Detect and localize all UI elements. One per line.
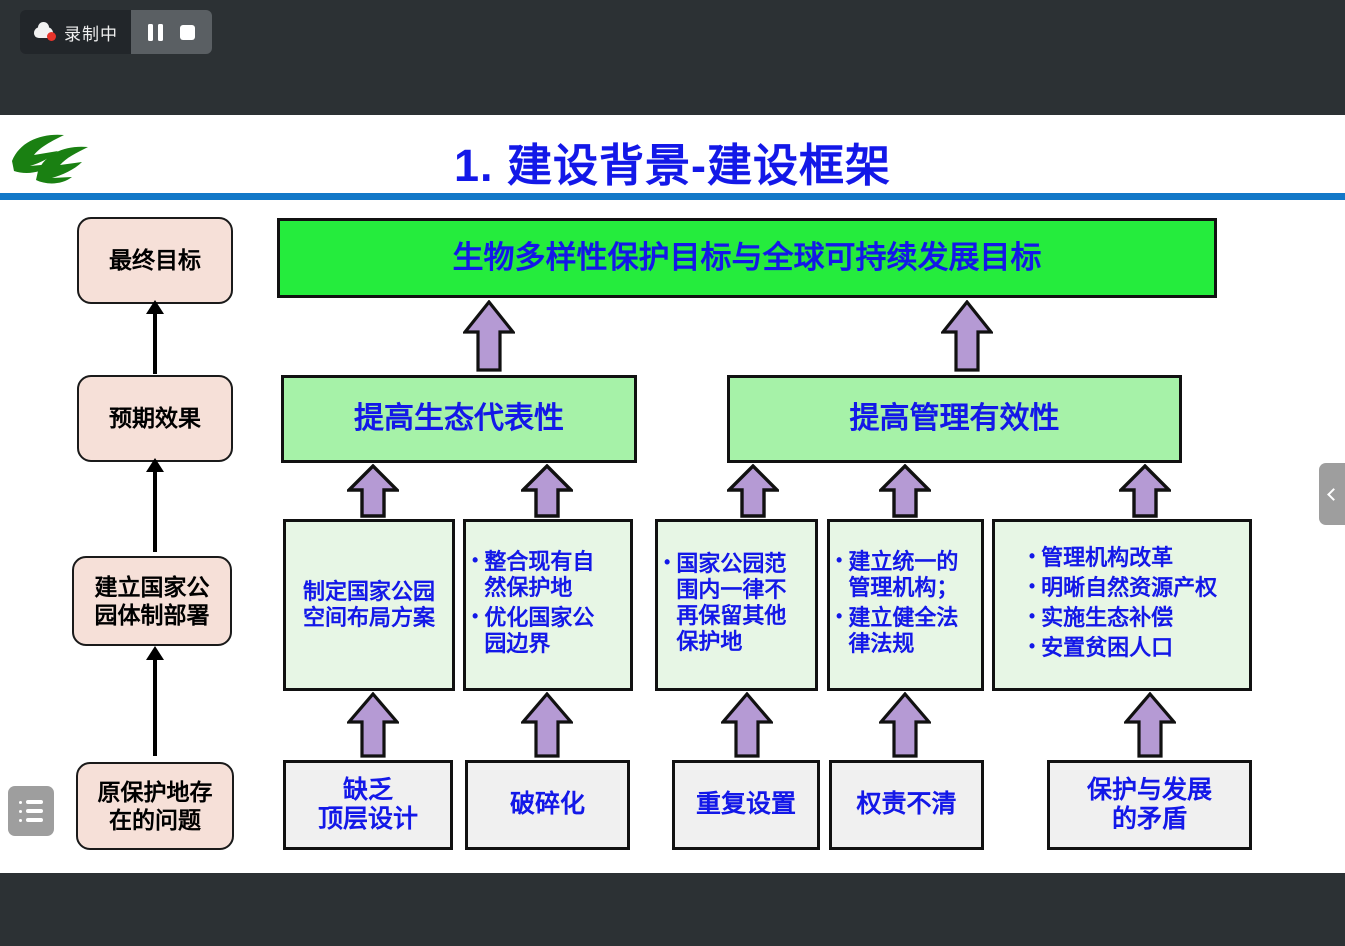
flow-arrow-up — [721, 692, 773, 758]
list-item: •明晰自然资源产权 — [1029, 575, 1217, 601]
list-item: •实施生态补偿 — [1029, 605, 1217, 631]
connector-line — [153, 468, 157, 552]
bullet-text: 整合现有自 然保护地 — [484, 549, 594, 601]
row-label-text: 建立国家公 园体制部署 — [95, 573, 210, 629]
issue-box-text: 权责不清 — [856, 790, 956, 820]
connector-line — [153, 656, 157, 756]
bullet-text: 安置贫困人口 — [1041, 635, 1217, 661]
row-label-final-goal: 最终目标 — [77, 217, 233, 304]
goal-box-ecological-representativeness: 提高生态代表性 — [281, 375, 637, 463]
final-goal-banner-text: 生物多样性保护目标与全球可持续发展目标 — [453, 240, 1042, 277]
flow-arrow-up — [463, 300, 515, 372]
bullet-dot: • — [1029, 545, 1035, 568]
row-label-text: 原保护地存 在的问题 — [98, 778, 213, 834]
action-box-integrate-reserves: •整合现有自 然保护地 •优化国家公 园边界 — [463, 519, 633, 691]
bullet-dot: • — [1029, 605, 1035, 628]
issue-box-text: 破碎化 — [510, 790, 585, 820]
right-panel-toggle[interactable] — [1319, 463, 1345, 525]
issue-box-duplicate-setup: 重复设置 — [672, 760, 820, 850]
recording-widget[interactable]: 录制中 — [20, 10, 212, 54]
flow-arrow-up — [521, 692, 573, 758]
issue-box-text: 缺乏 顶层设计 — [318, 776, 418, 835]
bullet-dot: • — [1029, 635, 1035, 658]
final-goal-banner: 生物多样性保护目标与全球可持续发展目标 — [277, 218, 1217, 298]
bullet-text: 优化国家公 园边界 — [484, 605, 594, 657]
action-box-spatial-layout: 制定国家公园 空间布局方案 — [283, 519, 455, 691]
flow-arrow-up — [347, 692, 399, 758]
goal-box-text: 提高生态代表性 — [354, 401, 564, 436]
top-chrome-bar: 录制中 — [0, 0, 1345, 115]
issue-box-unclear-responsibility: 权责不清 — [829, 760, 984, 850]
action-box-unified-management: •建立统一的 管理机构； •建立健全法 律法规 — [827, 519, 984, 691]
recording-status-label: 录制中 — [64, 20, 118, 45]
connector-arrowhead — [146, 458, 164, 472]
bullet-dot: • — [664, 551, 670, 574]
pause-icon[interactable] — [148, 24, 163, 41]
connector-arrowhead — [146, 646, 164, 660]
bullet-dot: • — [472, 605, 478, 628]
bullet-text: 建立统一的 管理机构； — [848, 549, 958, 601]
bullet-list: •管理机构改革 •明晰自然资源产权 •实施生态补偿 •安置贫困人口 — [1029, 545, 1217, 665]
connector-arrowhead — [146, 300, 164, 314]
flow-arrow-up — [1124, 692, 1176, 758]
bullet-list: •整合现有自 然保护地 •优化国家公 园边界 — [472, 549, 594, 661]
goal-box-management-effectiveness: 提高管理有效性 — [727, 375, 1182, 463]
slide-viewer: 录制中 1. 建设背景-建设框架 最终目标 预期效果 建立国家公 园体制部署 — [0, 0, 1345, 946]
bullet-text: 明晰自然资源产权 — [1041, 575, 1217, 601]
bottom-chrome-bar — [0, 873, 1345, 946]
list-item: •优化国家公 园边界 — [472, 605, 594, 657]
row-label-existing-problems: 原保护地存 在的问题 — [76, 762, 234, 850]
list-item: •建立统一的 管理机构； — [836, 549, 958, 601]
recording-controls[interactable] — [131, 10, 212, 54]
header-divider — [0, 193, 1345, 200]
bullet-text: 实施生态补偿 — [1041, 605, 1217, 631]
list-item: •安置贫困人口 — [1029, 635, 1217, 661]
list-item: •整合现有自 然保护地 — [472, 549, 594, 601]
bullet-list: •国家公园范 围内一律不 再保留其他 保护地 — [664, 551, 786, 659]
action-box-text: 制定国家公园 空间布局方案 — [303, 579, 435, 631]
bullet-text: 建立健全法 律法规 — [848, 605, 958, 657]
action-box-management-reform: •管理机构改革 •明晰自然资源产权 •实施生态补偿 •安置贫困人口 — [992, 519, 1252, 691]
row-label-text: 预期效果 — [109, 404, 201, 432]
stop-icon[interactable] — [180, 25, 195, 40]
row-label-expected-effect: 预期效果 — [77, 375, 233, 462]
list-item: •管理机构改革 — [1029, 545, 1217, 571]
bullet-dot: • — [836, 605, 842, 628]
goal-box-text: 提高管理有效性 — [850, 401, 1060, 436]
recording-status: 录制中 — [20, 10, 131, 54]
bullet-dot: • — [1029, 575, 1035, 598]
bullet-text: 国家公园范 围内一律不 再保留其他 保护地 — [676, 551, 786, 655]
chevron-left-icon — [1327, 488, 1340, 501]
flow-arrow-up — [727, 464, 779, 518]
list-item: •国家公园范 围内一律不 再保留其他 保护地 — [664, 551, 786, 655]
issue-box-protection-development-conflict: 保护与发展 的矛盾 — [1047, 760, 1252, 850]
bullet-dot: • — [836, 549, 842, 572]
issue-box-text: 保护与发展 的矛盾 — [1087, 776, 1212, 835]
issue-box-fragmentation: 破碎化 — [465, 760, 630, 850]
list-item: •建立健全法 律法规 — [836, 605, 958, 657]
list-menu-icon — [19, 800, 43, 822]
action-box-no-other-reserves: •国家公园范 围内一律不 再保留其他 保护地 — [655, 519, 818, 691]
issue-box-lack-top-design: 缺乏 顶层设计 — [283, 760, 453, 850]
bullet-list: •建立统一的 管理机构； •建立健全法 律法规 — [836, 549, 958, 661]
left-panel-toggle[interactable] — [8, 786, 54, 836]
flow-arrow-up — [1119, 464, 1171, 518]
flow-arrow-up — [347, 464, 399, 518]
flow-arrow-up — [879, 464, 931, 518]
diagram-canvas: 最终目标 预期效果 建立国家公 园体制部署 原保护地存 在的问题 生物多样性保护… — [0, 200, 1345, 873]
flow-arrow-up — [941, 300, 993, 372]
flow-arrow-up — [521, 464, 573, 518]
issue-box-text: 重复设置 — [696, 790, 796, 820]
bullet-dot: • — [472, 549, 478, 572]
slide-header: 1. 建设背景-建设框架 — [0, 115, 1345, 198]
cloud-recording-icon — [34, 24, 56, 40]
row-label-system-deployment: 建立国家公 园体制部署 — [72, 556, 232, 646]
row-label-text: 最终目标 — [109, 246, 201, 274]
page-title: 1. 建设背景-建设框架 — [0, 129, 1345, 194]
bullet-text: 管理机构改革 — [1041, 545, 1217, 571]
flow-arrow-up — [879, 692, 931, 758]
connector-line — [153, 310, 157, 374]
